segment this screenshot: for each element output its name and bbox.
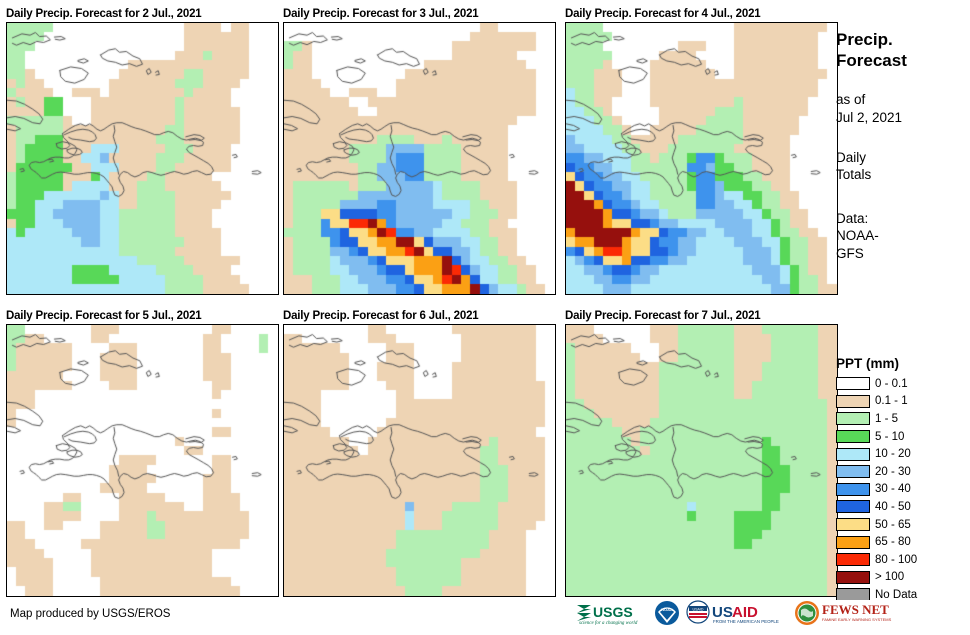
legend-label: 80 - 100	[875, 554, 917, 566]
panel-title: Daily Precip. Forecast for 7 Jul., 2021	[565, 308, 838, 324]
sidebar-data-line1: Data:	[836, 210, 970, 228]
legend-label: 30 - 40	[875, 483, 911, 495]
legend-row: 5 - 10	[836, 428, 970, 446]
fewsnet-logo: FEWS NET FAMINE EARLY WARNING SYSTEMS NE…	[794, 600, 892, 626]
legend-label: 5 - 10	[875, 431, 904, 443]
precip-raster	[7, 23, 278, 294]
legend: PPT (mm) 0 - 0.10.1 - 11 - 55 - 1010 - 2…	[836, 356, 970, 604]
legend-title: PPT (mm)	[836, 356, 970, 371]
map-canvas-container	[565, 22, 838, 295]
sidebar-title-line1: Precip.	[836, 30, 970, 51]
map-panel-3-jul-2021: Daily Precip. Forecast for 3 Jul., 2021	[283, 6, 556, 295]
legend-row: 50 - 65	[836, 516, 970, 534]
legend-label: 0.1 - 1	[875, 395, 908, 407]
legend-swatch	[836, 518, 870, 531]
map-panel-2-jul-2021: Daily Precip. Forecast for 2 Jul., 2021	[6, 6, 279, 295]
legend-row: 1 - 5	[836, 410, 970, 428]
svg-text:USAID: USAID	[693, 608, 704, 612]
sidebar-title-line2: Forecast	[836, 51, 970, 72]
sidebar-data-source: Data: NOAA- GFS	[836, 210, 970, 263]
panel-title: Daily Precip. Forecast for 4 Jul., 2021	[565, 6, 838, 22]
panel-title: Daily Precip. Forecast for 2 Jul., 2021	[6, 6, 279, 22]
legend-swatch	[836, 448, 870, 461]
sidebar-asof-line1: as of	[836, 91, 970, 109]
legend-swatch	[836, 553, 870, 566]
legend-swatch	[836, 430, 870, 443]
map-canvas-container	[283, 22, 556, 295]
noaa-logo: NOAA	[654, 600, 680, 626]
precip-raster	[7, 325, 278, 596]
agency-logos: USGS science for a changing world NOAA U…	[575, 600, 892, 626]
map-panel-4-jul-2021: Daily Precip. Forecast for 4 Jul., 2021	[565, 6, 838, 295]
legend-swatch	[836, 465, 870, 478]
sidebar-totals-line1: Daily	[836, 149, 970, 167]
svg-text:science for a changing world: science for a changing world	[579, 621, 638, 626]
svg-text:FROM THE AMERICAN PEOPLE: FROM THE AMERICAN PEOPLE	[713, 619, 779, 624]
legend-swatch	[836, 483, 870, 496]
map-panel-6-jul-2021: Daily Precip. Forecast for 6 Jul., 2021	[283, 308, 556, 597]
legend-row: 30 - 40	[836, 481, 970, 499]
legend-row: 10 - 20	[836, 445, 970, 463]
sidebar-asof: as of Jul 2, 2021	[836, 91, 970, 126]
map-canvas-container	[283, 324, 556, 597]
sidebar-data-line2: NOAA-	[836, 227, 970, 245]
usaid-logo: USAID US AID FROM THE AMERICAN PEOPLE	[685, 600, 789, 626]
sidebar-title: Precip. Forecast	[836, 30, 970, 71]
legend-label: > 100	[875, 571, 904, 583]
legend-label: 1 - 5	[875, 413, 898, 425]
legend-label: 10 - 20	[875, 448, 911, 460]
legend-row: 20 - 30	[836, 463, 970, 481]
precip-raster	[566, 23, 837, 294]
svg-text:FAMINE EARLY WARNING SYSTEMS N: FAMINE EARLY WARNING SYSTEMS NETWORK	[822, 617, 892, 622]
precip-raster	[284, 325, 555, 596]
usgs-logo: USGS science for a changing world	[575, 600, 649, 626]
sidebar-asof-line2: Jul 2, 2021	[836, 109, 970, 127]
legend-swatch	[836, 500, 870, 513]
sidebar-data-line3: GFS	[836, 245, 970, 263]
map-canvas-container	[6, 22, 279, 295]
svg-text:USGS: USGS	[593, 604, 633, 620]
legend-label: 0 - 0.1	[875, 378, 908, 390]
precip-raster	[566, 325, 837, 596]
legend-swatch	[836, 412, 870, 425]
sidebar-totals: Daily Totals	[836, 149, 970, 184]
sidebar-totals-line2: Totals	[836, 166, 970, 184]
sidebar: Precip. Forecast as of Jul 2, 2021 Daily…	[836, 0, 970, 262]
svg-text:FEWS NET: FEWS NET	[822, 602, 889, 617]
legend-label: 65 - 80	[875, 536, 911, 548]
legend-label: 40 - 50	[875, 501, 911, 513]
svg-text:NOAA: NOAA	[661, 607, 673, 612]
legend-label: 50 - 65	[875, 519, 911, 531]
legend-swatch	[836, 377, 870, 390]
panel-title: Daily Precip. Forecast for 6 Jul., 2021	[283, 308, 556, 324]
legend-swatch	[836, 571, 870, 584]
legend-label: 20 - 30	[875, 466, 911, 478]
panel-title: Daily Precip. Forecast for 5 Jul., 2021	[6, 308, 279, 324]
map-panel-5-jul-2021: Daily Precip. Forecast for 5 Jul., 2021	[6, 308, 279, 597]
legend-row: 80 - 100	[836, 551, 970, 569]
legend-swatch	[836, 395, 870, 408]
precip-raster	[284, 23, 555, 294]
legend-row: 40 - 50	[836, 498, 970, 516]
legend-row: 65 - 80	[836, 533, 970, 551]
map-canvas-container	[565, 324, 838, 597]
map-credit: Map produced by USGS/EROS	[10, 608, 170, 620]
legend-entries: 0 - 0.10.1 - 11 - 55 - 1010 - 2020 - 303…	[836, 375, 970, 604]
legend-row: 0.1 - 1	[836, 393, 970, 411]
map-canvas-container	[6, 324, 279, 597]
legend-row: 0 - 0.1	[836, 375, 970, 393]
panel-title: Daily Precip. Forecast for 3 Jul., 2021	[283, 6, 556, 22]
legend-row: > 100	[836, 569, 970, 587]
map-panel-7-jul-2021: Daily Precip. Forecast for 7 Jul., 2021	[565, 308, 838, 597]
legend-swatch	[836, 536, 870, 549]
